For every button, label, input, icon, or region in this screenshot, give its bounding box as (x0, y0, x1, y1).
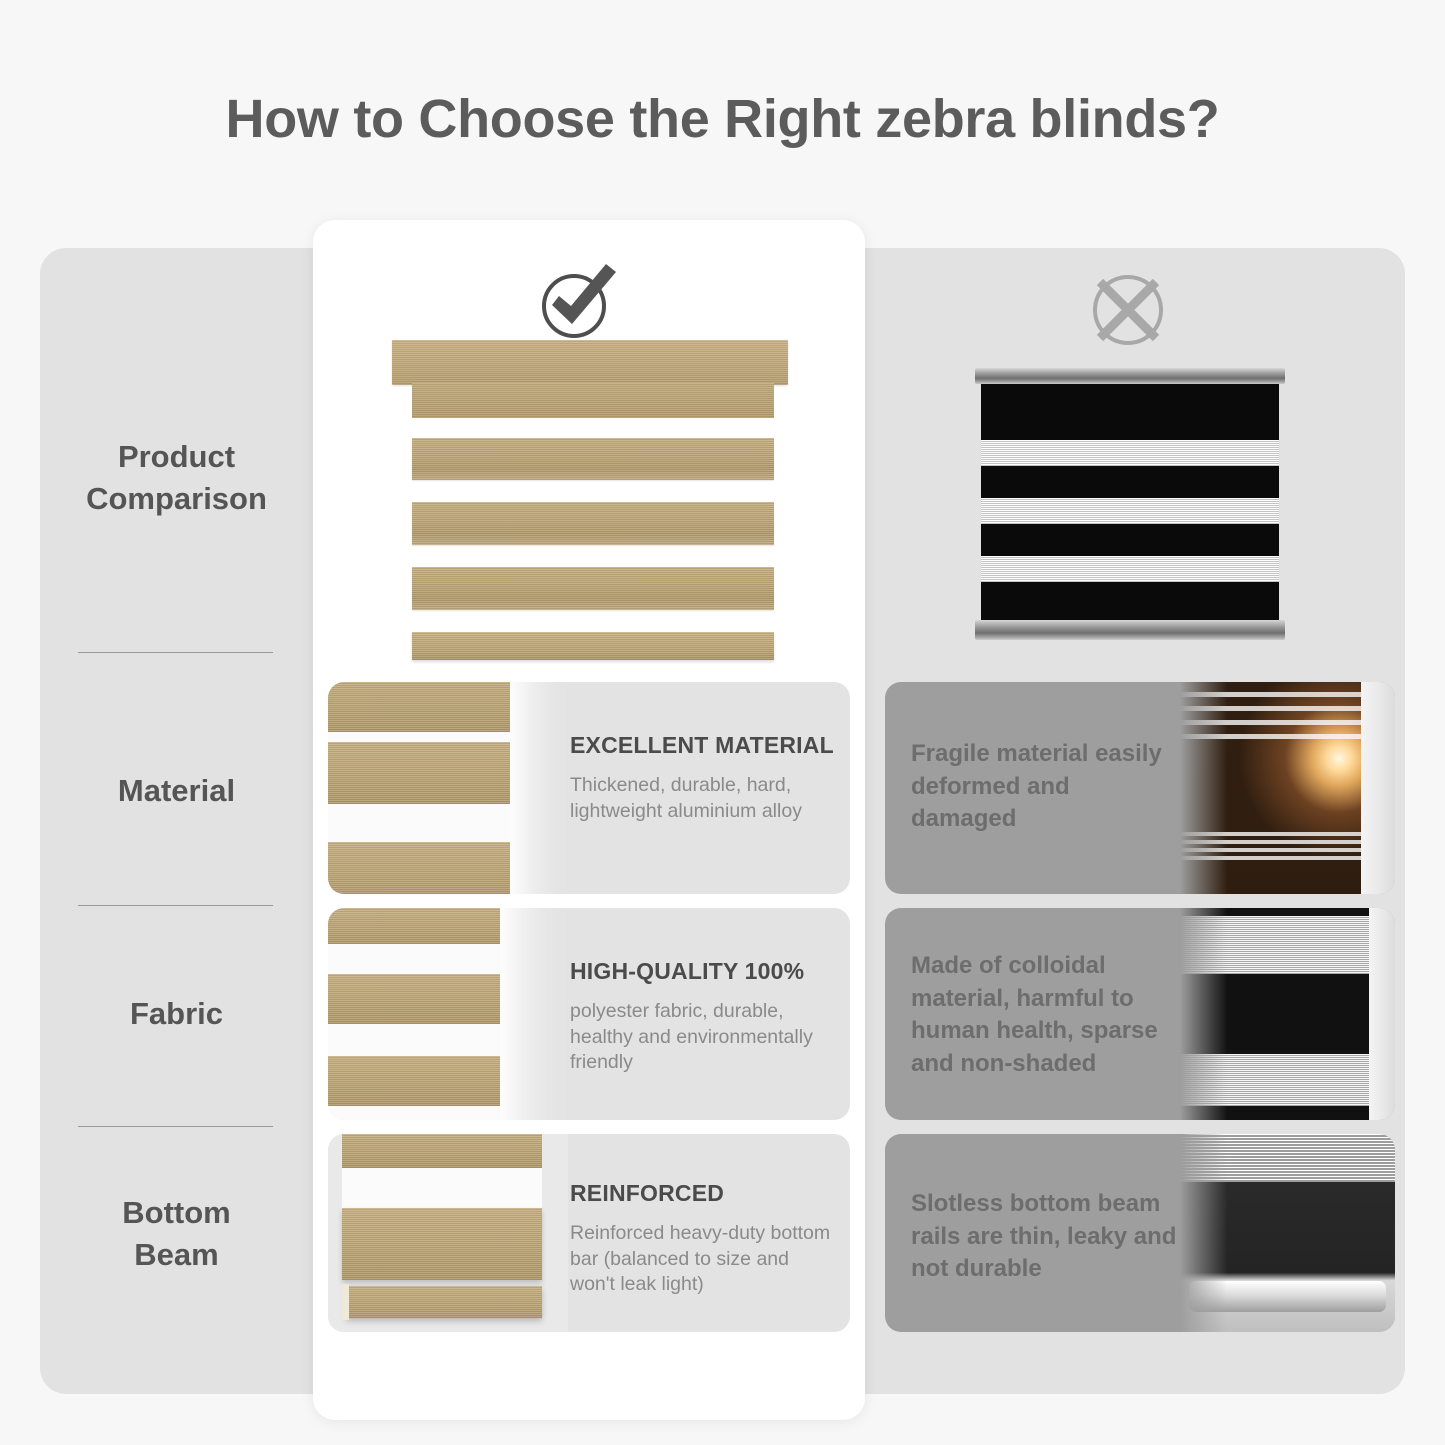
blind-gap (328, 944, 500, 974)
bad-blind-sheer-band (981, 440, 1279, 466)
row-label-line1: Material (118, 773, 235, 808)
bad-blind-sheer-band (981, 556, 1279, 582)
good-card-material: EXCELLENT MATERIAL Thickened, durable, h… (328, 682, 850, 894)
blind-gap (328, 804, 510, 842)
card-body: Thickened, durable, hard, lightweight al… (570, 773, 838, 824)
bad-card-material: Fragile material easily deformed and dam… (885, 682, 1395, 894)
bad-card-bottom-beam: Slotless bottom beam rails are thin, lea… (885, 1134, 1395, 1332)
window-frame (1369, 908, 1395, 1120)
row-divider-1 (78, 652, 273, 653)
row-divider-2 (78, 905, 273, 906)
card-heading: EXCELLENT MATERIAL (570, 732, 838, 759)
card-heading: REINFORCED (570, 1180, 838, 1207)
good-card-fabric-text: HIGH-QUALITY 100% polyester fabric, dura… (570, 958, 838, 1076)
blind-stripe (328, 908, 500, 944)
good-blind-headrail (392, 340, 788, 385)
good-blind-bottom-bar (412, 632, 774, 660)
good-card-bottom-beam: REINFORCED Reinforced heavy-duty bottom … (328, 1134, 850, 1332)
bad-blind-bottom-rail (975, 620, 1285, 640)
bad-card-fabric: Made of colloidal material, harmful to h… (885, 908, 1395, 1120)
good-blind-headrail-lip (412, 383, 774, 418)
row-label-fabric: Fabric (40, 993, 313, 1035)
x-circle-icon (1080, 262, 1176, 358)
window-frame (1361, 682, 1395, 894)
bad-card-fabric-image (1180, 908, 1395, 1120)
blind-slat-lines (1180, 1134, 1395, 1182)
infographic-root: How to Choose the Right zebra blinds? Pr… (0, 0, 1445, 1445)
good-product-image (390, 340, 790, 670)
blind-stripe (328, 682, 510, 732)
row-label-line1: Bottom (122, 1195, 230, 1230)
row-label-line2: Comparison (86, 481, 267, 516)
row-label-bottom-beam: Bottom Beam (40, 1192, 313, 1276)
row-label-material: Material (40, 770, 313, 812)
card-heading: HIGH-QUALITY 100% (570, 958, 838, 985)
blind-stripe (342, 1208, 542, 1280)
good-card-bottom-beam-text: REINFORCED Reinforced heavy-duty bottom … (570, 1180, 838, 1298)
row-label-product-comparison: Product Comparison (40, 436, 313, 520)
card-body: polyester fabric, durable, healthy and e… (570, 999, 838, 1076)
sheer-band (1180, 916, 1395, 974)
good-blind-slat (412, 438, 774, 480)
row-label-line1: Product (118, 439, 235, 474)
check-circle-icon (530, 250, 626, 346)
good-card-material-image (328, 682, 568, 894)
good-card-fabric-image (328, 908, 568, 1120)
blind-stripe (342, 1134, 542, 1168)
row-divider-3 (78, 1126, 273, 1127)
good-card-material-text: EXCELLENT MATERIAL Thickened, durable, h… (570, 732, 838, 824)
bad-card-fabric-text: Made of colloidal material, harmful to h… (911, 950, 1181, 1081)
good-blind-slat (412, 502, 774, 545)
blind-stripe (328, 842, 510, 894)
row-label-line2: Beam (134, 1237, 218, 1272)
window-frame (500, 908, 568, 1120)
page-title: How to Choose the Right zebra blinds? (0, 88, 1445, 150)
row-label-line1: Fabric (130, 996, 223, 1031)
bad-blind-body (981, 384, 1279, 620)
bad-blind-headrail (975, 368, 1285, 384)
blind-gap (328, 1106, 500, 1120)
card-body: Reinforced heavy-duty bottom bar (balanc… (570, 1221, 838, 1298)
blind-gap (328, 1024, 500, 1056)
blind-gap (328, 732, 510, 742)
image-fade-mask (1180, 682, 1395, 894)
bottom-bar (346, 1286, 542, 1318)
bad-card-bottom-beam-image (1180, 1134, 1395, 1332)
bad-card-bottom-beam-text: Slotless bottom beam rails are thin, lea… (911, 1188, 1181, 1286)
sheer-band (1180, 1054, 1395, 1106)
blind-gap (342, 1168, 542, 1208)
bad-card-material-image (1180, 682, 1395, 894)
blind-stripe (328, 974, 500, 1024)
blind-stripe (328, 1056, 500, 1106)
good-card-fabric: HIGH-QUALITY 100% polyester fabric, dura… (328, 908, 850, 1120)
bad-product-image (975, 368, 1285, 640)
image-fade-mask (1180, 1134, 1395, 1332)
row-label-column: Product Comparison Material Fabric Botto… (40, 248, 313, 1394)
bad-card-material-text: Fragile material easily deformed and dam… (911, 738, 1181, 836)
window-frame (510, 682, 568, 894)
blind-stripe (328, 742, 510, 804)
image-fade-mask (1180, 908, 1395, 1120)
bad-blind-sheer-band (981, 498, 1279, 524)
good-blind-slat (412, 567, 774, 610)
bottom-bar-endcap (342, 1284, 349, 1320)
good-card-bottom-beam-image (328, 1134, 568, 1332)
thin-bottom-rail (1189, 1281, 1387, 1313)
